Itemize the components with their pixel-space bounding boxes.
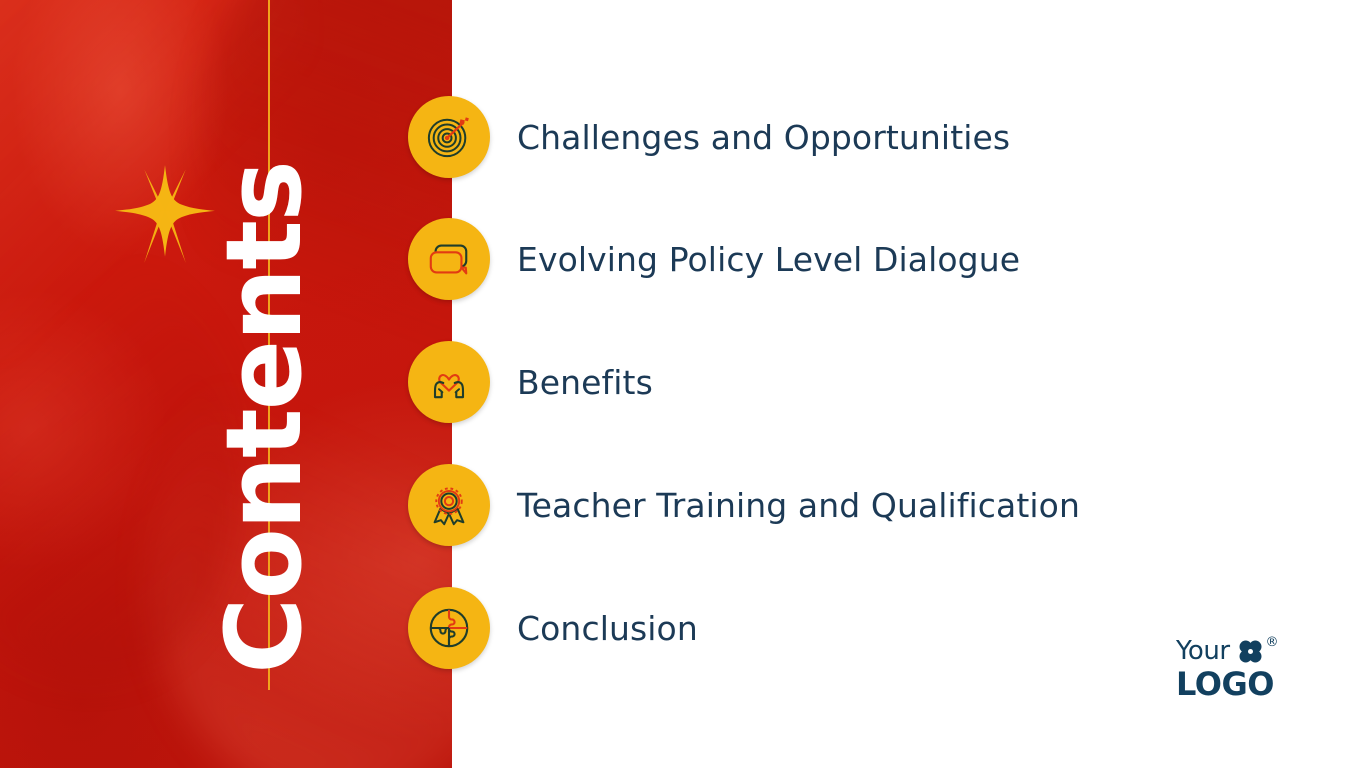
logo[interactable]: Your ® LOGO	[1176, 636, 1306, 698]
contents-list: Challenges and Opportunities Evolving Po…	[0, 0, 1366, 768]
list-item[interactable]: Benefits	[408, 341, 1288, 423]
clover-mark-icon	[1237, 638, 1264, 665]
slide-canvas: Contents Challenges and	[0, 0, 1366, 768]
list-item-label: Benefits	[517, 363, 653, 402]
heart-in-hands-icon	[408, 341, 490, 423]
list-item-label: Evolving Policy Level Dialogue	[517, 240, 1020, 279]
logo-logo-text: LOGO	[1176, 668, 1306, 700]
award-ribbon-icon	[408, 464, 490, 546]
list-item[interactable]: Challenges and Opportunities	[408, 96, 1288, 178]
list-item-label: Teacher Training and Qualification	[517, 486, 1080, 525]
list-item-label: Challenges and Opportunities	[517, 118, 1010, 157]
target-dart-icon	[408, 96, 490, 178]
list-item-label: Conclusion	[517, 609, 698, 648]
list-item[interactable]: Teacher Training and Qualification	[408, 464, 1288, 546]
list-item[interactable]: Conclusion	[408, 587, 1288, 669]
registered-mark: ®	[1266, 636, 1279, 649]
logo-top-row: Your ®	[1176, 636, 1306, 666]
puzzle-circle-icon	[408, 587, 490, 669]
list-item[interactable]: Evolving Policy Level Dialogue	[408, 218, 1288, 300]
speech-bubbles-icon	[408, 218, 490, 300]
logo-your-text: Your	[1176, 638, 1230, 664]
